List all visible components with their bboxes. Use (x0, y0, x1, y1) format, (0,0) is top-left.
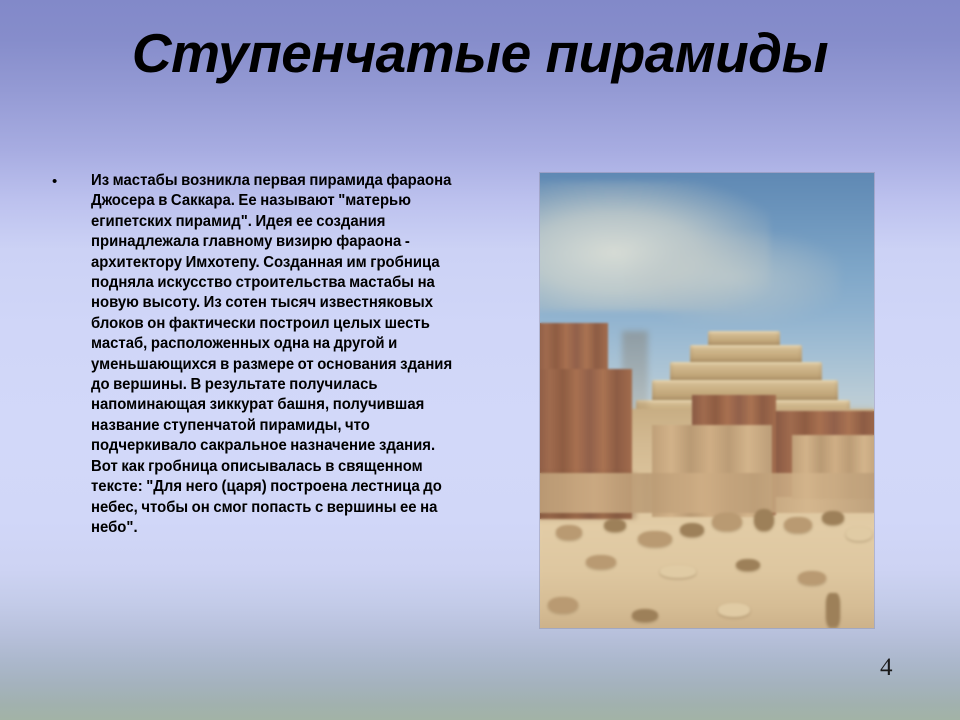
rubble-stone (736, 559, 760, 571)
rubble-stone (680, 523, 704, 537)
rubble-stone (754, 509, 774, 531)
rubble-stone (556, 525, 582, 540)
rubble-stone (784, 517, 812, 533)
slide-page-number: 4 (880, 654, 920, 682)
rubble-stone (798, 571, 826, 585)
presentation-slide: Ступенчатые пирамиды • Из мастабы возник… (0, 0, 960, 720)
slide-image-frame (540, 173, 874, 628)
rubble-stone (632, 609, 658, 622)
bullet-list-item: • Из мастабы возникла первая пирамида фа… (52, 171, 472, 538)
bullet-glyph: • (52, 172, 57, 192)
pyramid-tier-4 (670, 362, 822, 382)
step-pyramid-photo (540, 173, 874, 628)
page-title: Ступенчатые пирамиды (0, 22, 960, 84)
body-paragraph: Из мастабы возникла первая пирамида фара… (70, 171, 454, 538)
body-text-block: • Из мастабы возникла первая пирамида фа… (52, 171, 472, 538)
rubble-stone (712, 513, 742, 531)
photo-cloud-secondary (630, 233, 840, 323)
rubble-stone (638, 531, 672, 547)
rubble-stone (718, 603, 750, 617)
low-wall-strip (540, 473, 874, 513)
rubble-stone (548, 597, 578, 613)
rubble-stone (826, 593, 840, 627)
rubble-stone (586, 555, 616, 569)
rubble-stone (660, 565, 696, 578)
rubble-stone (604, 519, 626, 532)
bullet-point-icon: • (52, 171, 70, 192)
rubble-stone (822, 511, 844, 525)
rubble-stone (846, 527, 872, 541)
